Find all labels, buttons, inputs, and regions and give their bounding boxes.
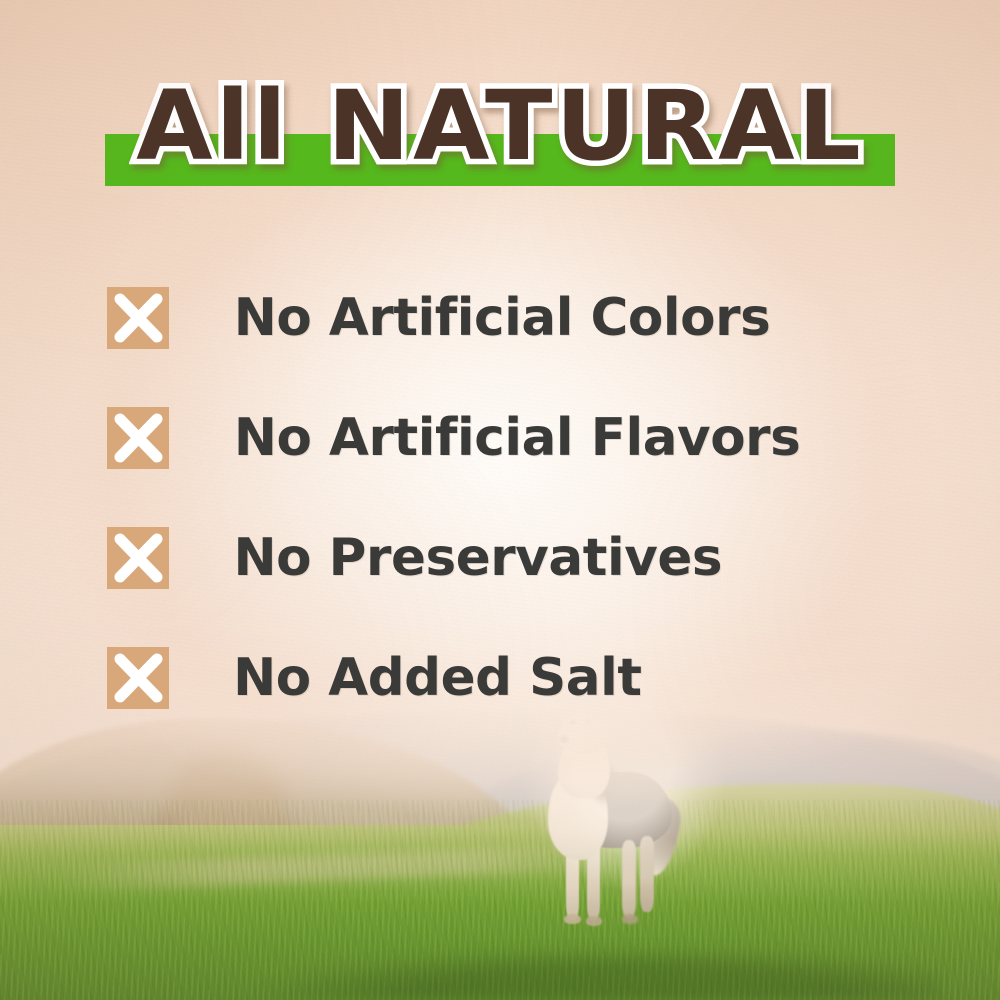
grass-shadow — [80, 908, 940, 1000]
feature-label: No Artificial Flavors — [234, 409, 801, 467]
x-mark-icon — [107, 647, 169, 709]
dog-paw-hind — [622, 914, 638, 924]
all-natural-feature-poster: All NATURAL No Artificial Colors No Arti… — [0, 0, 1000, 1000]
dog-paw-near — [564, 914, 581, 924]
x-mark-icon — [107, 287, 169, 349]
list-item: No Added Salt — [107, 618, 907, 738]
dog-paw-far — [586, 916, 602, 926]
feature-label: No Preservatives — [233, 529, 722, 587]
feature-list: No Artificial Colors No Artificial Flavo… — [107, 258, 907, 738]
list-item: No Artificial Colors — [107, 258, 907, 378]
dog-hind-leg-near — [622, 840, 636, 918]
feature-label: No Artificial Colors — [234, 289, 771, 347]
x-mark-icon — [107, 407, 169, 469]
list-item: No Artificial Flavors — [107, 378, 907, 498]
list-item: No Preservatives — [107, 498, 907, 618]
x-mark-icon — [107, 527, 169, 589]
dog-hind-leg-far — [640, 836, 654, 912]
page-title: All NATURAL — [0, 74, 1000, 178]
feature-label: No Added Salt — [233, 649, 642, 707]
headline-banner: All NATURAL — [0, 74, 1000, 194]
